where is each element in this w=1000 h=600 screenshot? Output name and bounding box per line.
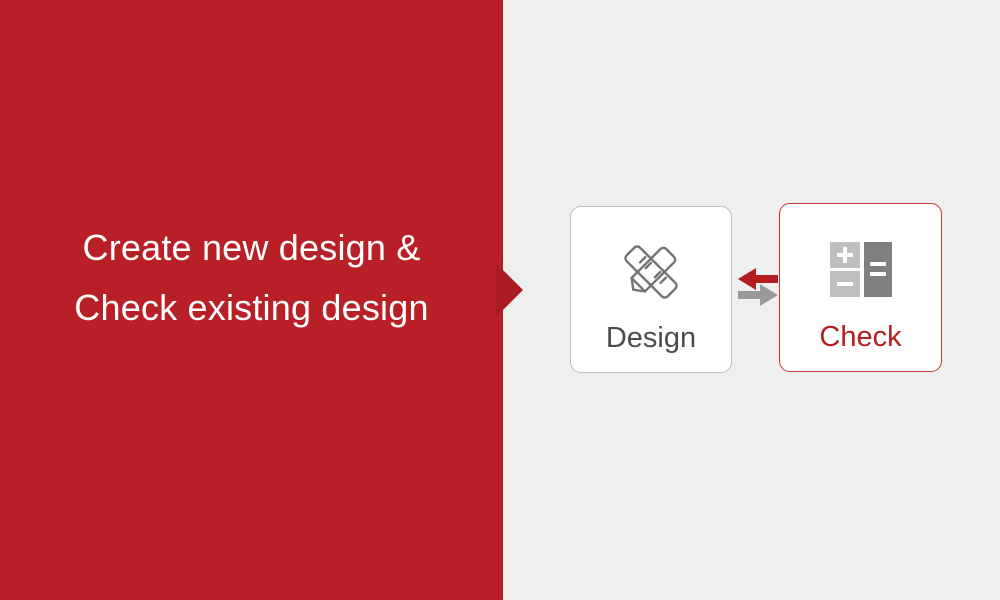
chevron-right-icon <box>496 263 524 317</box>
calculator-minus-key <box>830 271 860 297</box>
calculator-icon <box>780 226 941 312</box>
headline-text-block: Create new design & Check existing desig… <box>0 218 503 338</box>
card-design[interactable]: Design <box>570 206 732 373</box>
calculator-equals-key <box>864 242 892 297</box>
headline-line-2: Check existing design <box>0 278 503 338</box>
slide-canvas: Create new design & Check existing desig… <box>0 0 1000 600</box>
headline-line-1: Create new design & <box>0 218 503 278</box>
calculator-plus-key <box>830 242 860 268</box>
red-headline-panel: Create new design & Check existing desig… <box>0 0 503 600</box>
bidirectional-exchange-arrows-icon <box>735 258 781 316</box>
card-check[interactable]: Check <box>779 203 942 372</box>
card-design-label: Design <box>571 321 731 355</box>
pencil-ruler-icon <box>571 229 731 315</box>
card-check-label: Check <box>780 320 941 354</box>
calculator-keys <box>830 242 892 297</box>
